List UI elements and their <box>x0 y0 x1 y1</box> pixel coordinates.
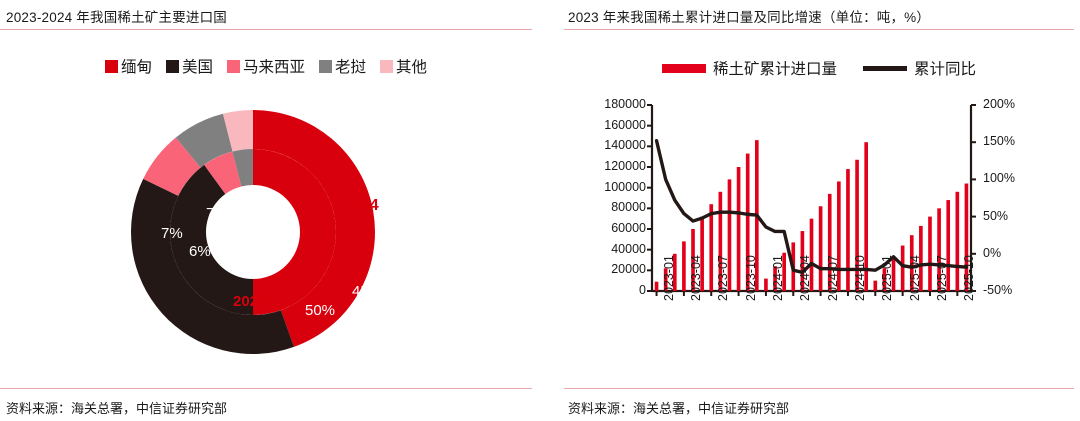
right-panel: 2023 年来我国稀土累计进口量及同比增速（单位：吨，%） 稀土矿累计进口量 累… <box>540 0 1080 421</box>
y-axis-left-tick-label: 180000 <box>584 97 646 111</box>
donut-slice-label: 38% <box>156 331 186 348</box>
y-axis-right-tick-label: 0% <box>983 246 1001 260</box>
bar-import-volume[interactable] <box>901 246 905 291</box>
bar-import-volume[interactable] <box>737 167 741 291</box>
report-figure-page: 2023-2024 年我国稀土矿主要进口国 缅甸 美国 马来西亚 老挝 <box>0 0 1080 421</box>
x-axis-tick-label: 2023-10 <box>744 255 758 301</box>
y-axis-left-tick-label: 0 <box>584 283 646 297</box>
left-panel-source: 资料来源：海关总署，中信证券研究部 <box>6 398 227 417</box>
legend-swatch-laos <box>319 60 332 73</box>
y-axis-right-tick-label: 200% <box>983 97 1015 111</box>
donut-inner-ring-year-label: 2023 <box>233 293 266 310</box>
donut-legend: 缅甸 美国 马来西亚 老挝 其他 <box>0 54 532 78</box>
x-axis-tick-label: 2025-07 <box>935 255 949 301</box>
bar-line-chart: 0200004000060000800001000001200001400001… <box>540 0 1080 421</box>
right-panel-divider-bottom <box>564 388 1074 389</box>
x-axis-tick-label: 2023-04 <box>689 255 703 301</box>
x-axis-tick-label: 2024-10 <box>853 255 867 301</box>
legend-item-others[interactable]: 其他 <box>380 55 427 77</box>
legend-label-malaysia: 马来西亚 <box>243 55 305 77</box>
y-axis-right-tick-label: 150% <box>983 134 1015 148</box>
legend-label-myanmar: 缅甸 <box>121 55 152 77</box>
bar-import-volume[interactable] <box>819 206 823 291</box>
legend-swatch-usa <box>166 60 179 73</box>
bar-import-volume[interactable] <box>846 169 850 291</box>
y-axis-left-tick-label: 160000 <box>584 118 646 132</box>
y-axis-left-tick-label: 100000 <box>584 180 646 194</box>
legend-swatch-others <box>380 60 393 73</box>
left-panel-divider-top <box>0 29 532 30</box>
legend-item-myanmar[interactable]: 缅甸 <box>105 55 152 77</box>
y-axis-right-tick-label: -50% <box>983 283 1012 297</box>
legend-item-malaysia[interactable]: 马来西亚 <box>227 55 305 77</box>
donut-chart-svg <box>0 86 532 386</box>
left-panel-divider-bottom <box>0 388 532 389</box>
bar-import-volume[interactable] <box>682 241 686 291</box>
bar-import-volume[interactable] <box>928 217 932 291</box>
legend-item-laos[interactable]: 老挝 <box>319 55 366 77</box>
y-axis-left-tick-label: 140000 <box>584 138 646 152</box>
left-panel: 2023-2024 年我国稀土矿主要进口国 缅甸 美国 马来西亚 老挝 <box>0 0 540 421</box>
x-axis-tick-label: 2025-10 <box>962 255 976 301</box>
x-axis-tick-label: 2025-04 <box>908 255 922 301</box>
y-axis-left-tick-label: 20000 <box>584 262 646 276</box>
y-axis-left-tick-label: 120000 <box>584 159 646 173</box>
donut-outer-ring-year-label: 2024 <box>343 197 379 215</box>
x-axis-tick-label: 2024-01 <box>771 255 785 301</box>
donut-slice-label: 6% <box>189 243 211 260</box>
legend-label-usa: 美国 <box>182 55 213 77</box>
bar-import-volume[interactable] <box>655 282 659 291</box>
bar-import-volume[interactable] <box>709 204 713 291</box>
x-axis-tick-label: 2023-07 <box>716 255 730 301</box>
donut-slice-label: 40% <box>135 371 165 388</box>
bar-import-volume[interactable] <box>873 281 877 291</box>
donut-slice-label: 7% <box>161 225 183 242</box>
legend-label-laos: 老挝 <box>335 55 366 77</box>
legend-swatch-malaysia <box>227 60 240 73</box>
donut-slice-label: 45% <box>352 283 382 300</box>
y-axis-left-tick-label: 40000 <box>584 242 646 256</box>
y-axis-right-tick-label: 100% <box>983 171 1015 185</box>
legend-label-others: 其他 <box>396 55 427 77</box>
x-axis-tick-label: 2024-04 <box>798 255 812 301</box>
donut-slice-label: 7% <box>206 205 228 222</box>
legend-item-usa[interactable]: 美国 <box>166 55 213 77</box>
donut-slice-label: 50% <box>305 302 335 319</box>
left-panel-title: 2023-2024 年我国稀土矿主要进口国 <box>6 6 227 26</box>
x-axis-tick-label: 2025-01 <box>880 255 894 301</box>
y-axis-right-tick-label: 50% <box>983 209 1008 223</box>
y-axis-left-tick-label: 80000 <box>584 200 646 214</box>
x-axis-tick-label: 2023-01 <box>662 255 676 301</box>
legend-swatch-myanmar <box>105 60 118 73</box>
bar-import-volume[interactable] <box>764 279 768 291</box>
bar-import-volume[interactable] <box>956 192 960 291</box>
donut-slice-label: 4% <box>222 234 244 251</box>
right-panel-source: 资料来源：海关总署，中信证券研究部 <box>568 398 789 417</box>
x-axis-tick-label: 2024-07 <box>826 255 840 301</box>
donut-chart: 2024 2023 45%38%7%7%4%50%40%6% <box>0 86 532 386</box>
y-axis-left-tick-label: 60000 <box>584 221 646 235</box>
